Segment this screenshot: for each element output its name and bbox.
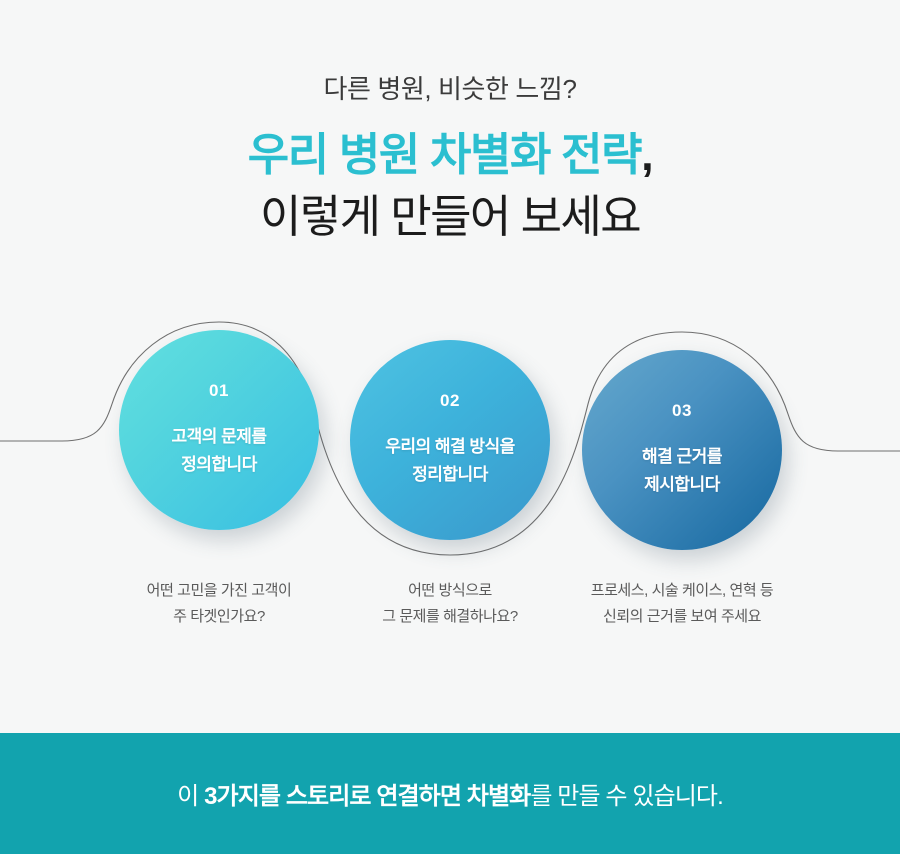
- step-3-title-line-2: 제시합니다: [642, 471, 722, 499]
- step-1-bubble[interactable]: 01 고객의 문제를 정의합니다: [119, 330, 319, 530]
- headline-accent-text: 우리 병원 차별화 전략: [248, 129, 641, 180]
- headline-line-2: 이렇게 만들어 보세요: [0, 186, 900, 248]
- step-1-number: 01: [209, 381, 229, 401]
- step-3-caption-line-1: 프로세스, 시술 케이스, 연혁 등: [542, 578, 822, 604]
- infographic-canvas: 다른 병원, 비슷한 느낌? 우리 병원 차별화 전략, 이렇게 만들어 보세요…: [0, 0, 900, 854]
- step-2-bubble[interactable]: 02 우리의 해결 방식을 정리합니다: [350, 340, 550, 540]
- page-title: 우리 병원 차별화 전략, 이렇게 만들어 보세요: [0, 124, 900, 248]
- step-1-title-line-1: 고객의 문제를: [171, 423, 266, 451]
- step-2[interactable]: 02 우리의 해결 방식을 정리합니다: [350, 340, 550, 540]
- eyebrow-text: 다른 병원, 비슷한 느낌?: [0, 74, 900, 105]
- header-block: 다른 병원, 비슷한 느낌? 우리 병원 차별화 전략, 이렇게 만들어 보세요: [0, 0, 900, 248]
- banner-text-prefix: 이: [177, 783, 204, 810]
- step-2-title: 우리의 해결 방식을 정리합니다: [385, 433, 515, 488]
- step-1-title-line-2: 정의합니다: [171, 451, 266, 479]
- banner-text-suffix: 를 만들 수 있습니다.: [530, 783, 723, 810]
- step-2-title-line-1: 우리의 해결 방식을: [385, 433, 515, 461]
- step-3-title: 해결 근거를 제시합니다: [642, 443, 722, 498]
- captions-row: 어떤 고민을 가진 고객이 주 타겟인가요? 어떤 방식으로 그 문제를 해결하…: [0, 578, 900, 658]
- step-2-title-line-2: 정리합니다: [385, 461, 515, 489]
- banner-text-emphasis: 3가지를 스토리로 연결하면 차별화: [204, 783, 530, 810]
- step-3[interactable]: 03 해결 근거를 제시합니다: [582, 350, 782, 550]
- step-3-number: 03: [672, 401, 692, 421]
- step-2-number: 02: [440, 391, 460, 411]
- step-1[interactable]: 01 고객의 문제를 정의합니다: [119, 330, 319, 530]
- step-3-bubble[interactable]: 03 해결 근거를 제시합니다: [582, 350, 782, 550]
- banner-message: 이 3가지를 스토리로 연결하면 차별화를 만들 수 있습니다.: [177, 776, 723, 811]
- step-3-title-line-1: 해결 근거를: [642, 443, 722, 471]
- bottom-banner: 이 3가지를 스토리로 연결하면 차별화를 만들 수 있습니다.: [0, 733, 900, 854]
- step-1-title: 고객의 문제를 정의합니다: [171, 423, 266, 478]
- step-3-caption: 프로세스, 시술 케이스, 연혁 등 신뢰의 근거를 보여 주세요: [542, 578, 822, 630]
- step-3-caption-line-2: 신뢰의 근거를 보여 주세요: [542, 604, 822, 630]
- headline-comma: ,: [641, 129, 652, 180]
- steps-row: 01 고객의 문제를 정의합니다 02 우리의 해결 방식을 정리합니다 03: [0, 330, 900, 540]
- headline-line-1: 우리 병원 차별화 전략,: [0, 124, 900, 186]
